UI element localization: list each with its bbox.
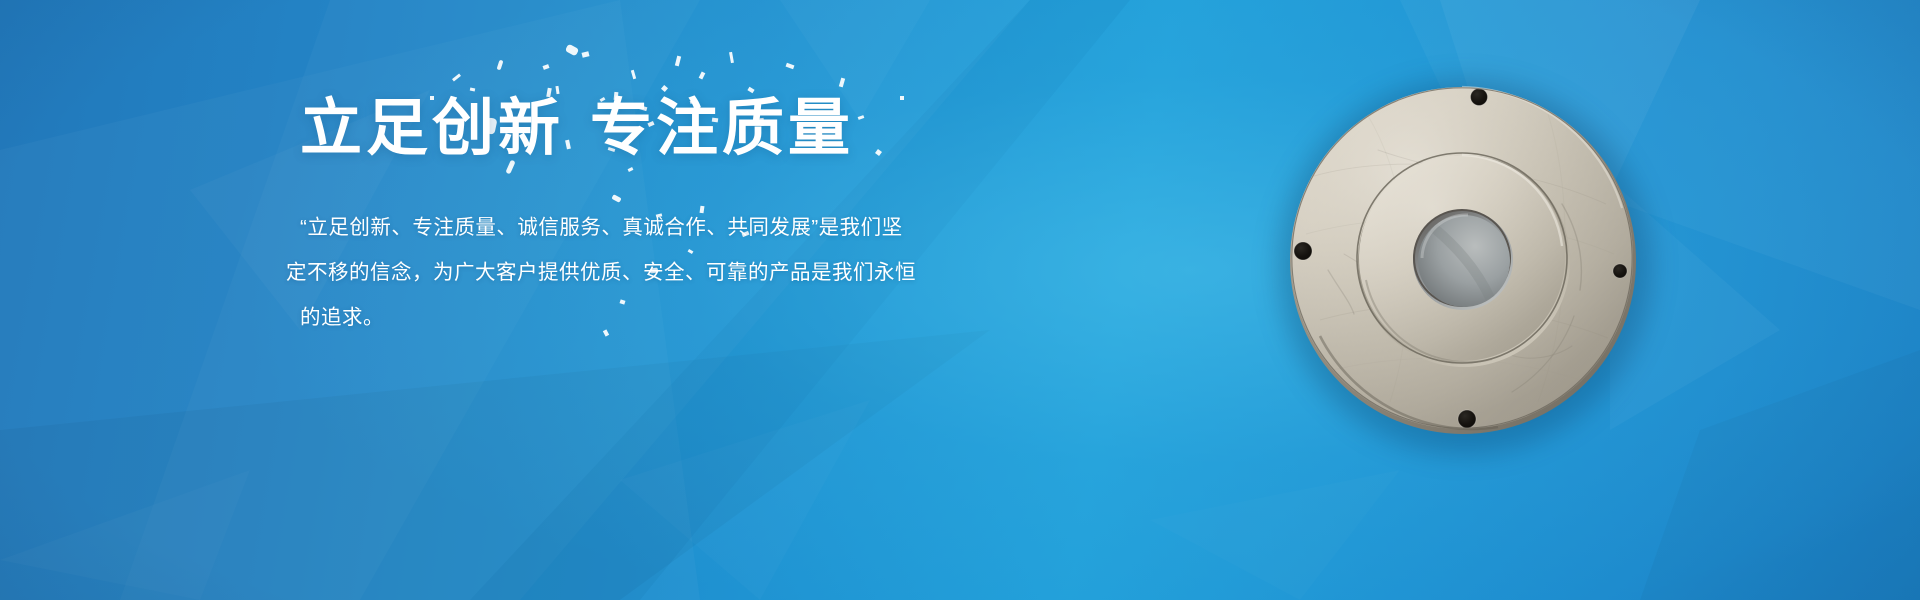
- headline-part-2: 专注质量: [590, 94, 854, 163]
- flange-illustration: [1262, 58, 1662, 458]
- metal-flange-disc: [1262, 58, 1662, 458]
- paragraph-line-1: “立足创新、专注质量、诚信服务、真诚合作、共同发展”是我们坚: [300, 205, 980, 250]
- paragraph-line-2: 定不移的信念，为广大客户提供优质、安全、可靠的产品是我们永恒: [286, 250, 980, 295]
- product-photo: [1262, 58, 1668, 464]
- banner-copy: 立足创新专注质量 “立足创新、专注质量、诚信服务、真诚合作、共同发展”是我们坚 …: [300, 96, 980, 340]
- headline-part-1: 立足创新: [300, 94, 564, 163]
- hero-banner: 立足创新专注质量 “立足创新、专注质量、诚信服务、真诚合作、共同发展”是我们坚 …: [0, 0, 1920, 600]
- banner-headline: 立足创新专注质量: [300, 96, 980, 163]
- paragraph-line-3: 的追求。: [300, 295, 980, 340]
- banner-paragraph: “立足创新、专注质量、诚信服务、真诚合作、共同发展”是我们坚 定不移的信念，为广…: [300, 205, 980, 340]
